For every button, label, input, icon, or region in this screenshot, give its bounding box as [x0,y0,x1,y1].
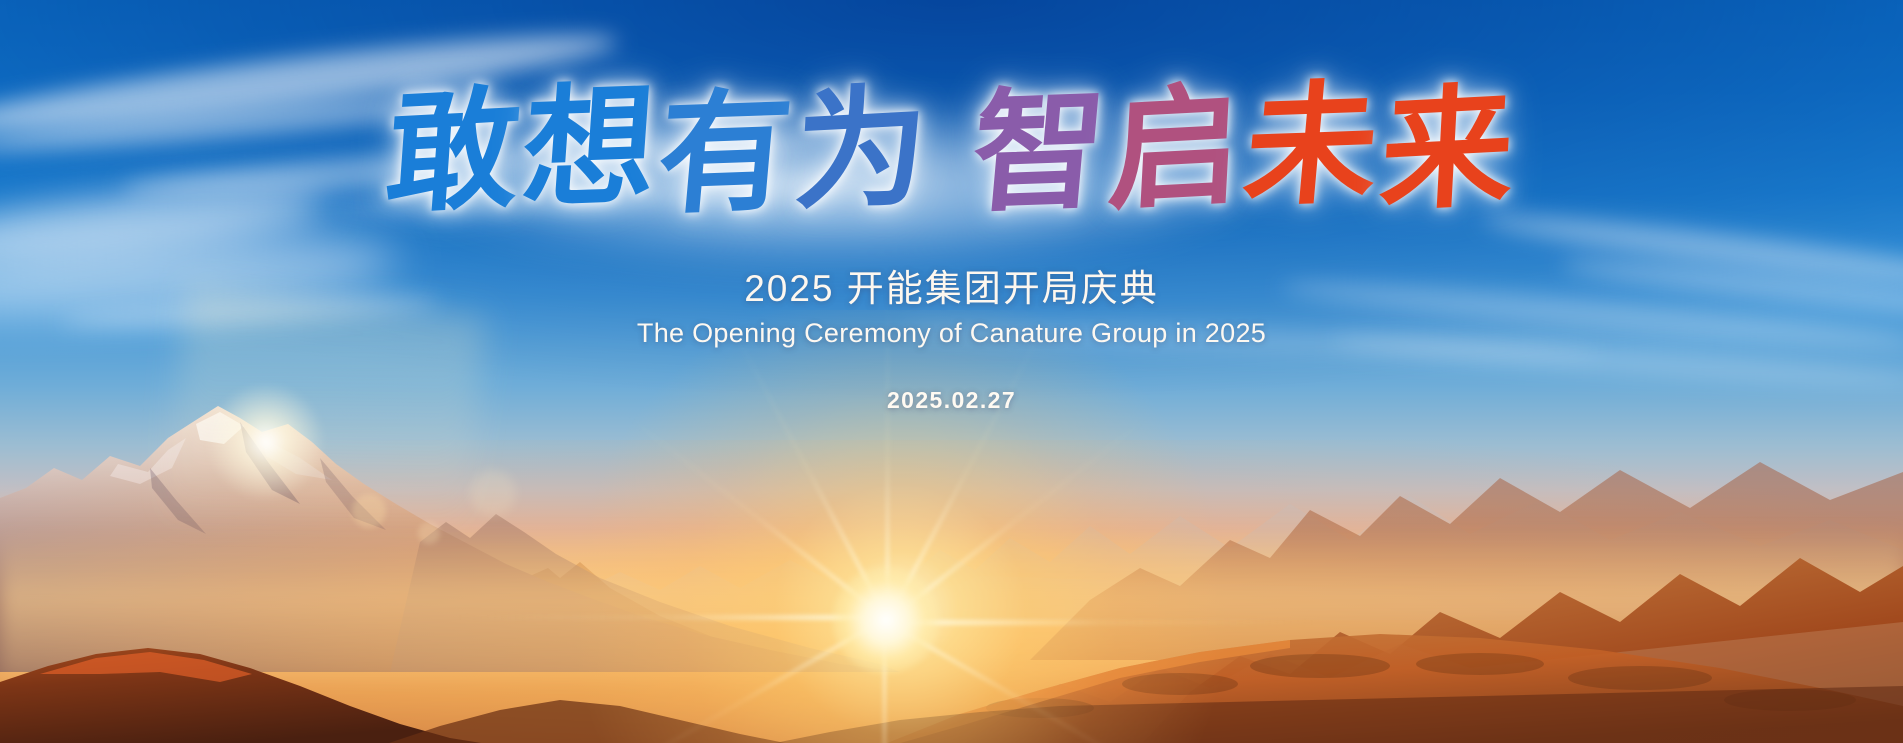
subtitle-chinese: 2025 开能集团开局庆典 [744,258,1159,312]
lens-flare-dot [352,494,386,528]
lens-flare-dot [470,470,516,516]
event-text-block: 2025 开能集团开局庆典 The Opening Ceremony of Ca… [0,258,1903,414]
subtitle-english: The Opening Ceremony of Canature Group i… [637,318,1266,349]
event-banner: 敢 想 有 为 智 启 未 来 2025 开能集团开局庆典 The Openin… [0,0,1903,743]
event-date: 2025.02.27 [887,387,1016,414]
lens-flare-dot [418,522,440,544]
sun-core [832,566,940,674]
